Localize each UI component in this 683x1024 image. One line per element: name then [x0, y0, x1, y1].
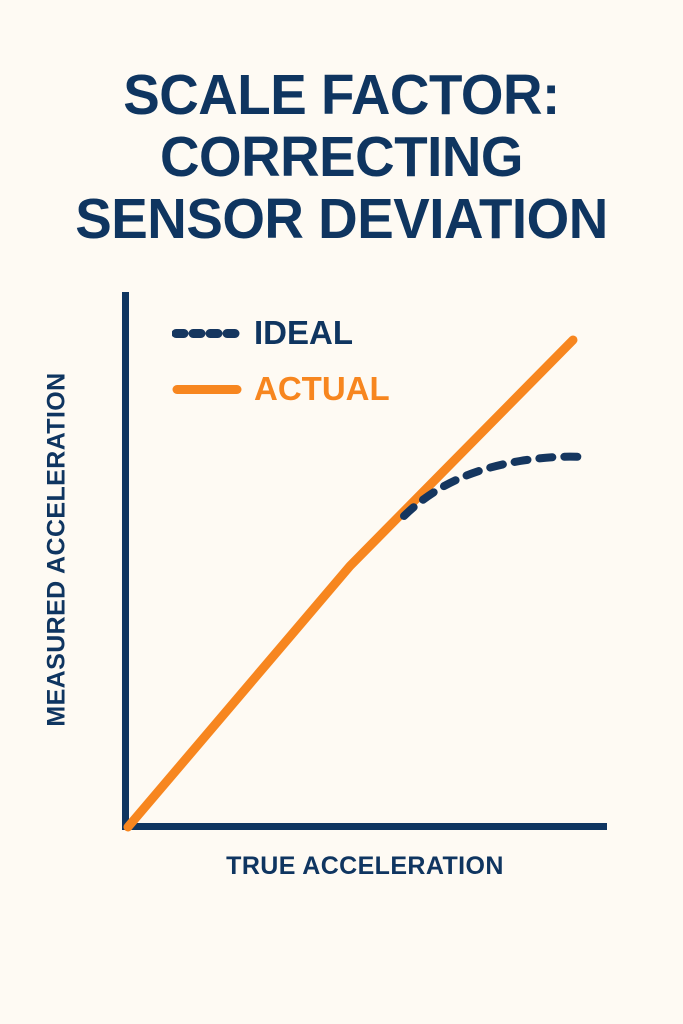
- legend-label-actual: ACTUAL: [254, 370, 390, 408]
- y-axis-label: MEASURED ACCELERATION: [43, 350, 72, 750]
- legend-dashed-line-icon: [172, 329, 242, 338]
- legend-label-ideal: IDEAL: [254, 314, 353, 352]
- chart: MEASURED ACCELERATION TRUE ACCELERATION …: [0, 0, 683, 1024]
- legend-item-actual: ACTUAL: [172, 361, 390, 417]
- poster-canvas: SCALE FACTOR: CORRECTING SENSOR DEVIATIO…: [0, 0, 683, 1024]
- x-axis-label: TRUE ACCELERATION: [122, 852, 608, 881]
- legend-solid-line-icon: [172, 385, 242, 394]
- legend-item-ideal: IDEAL: [172, 305, 390, 361]
- chart-legend: IDEAL ACTUAL: [172, 305, 390, 417]
